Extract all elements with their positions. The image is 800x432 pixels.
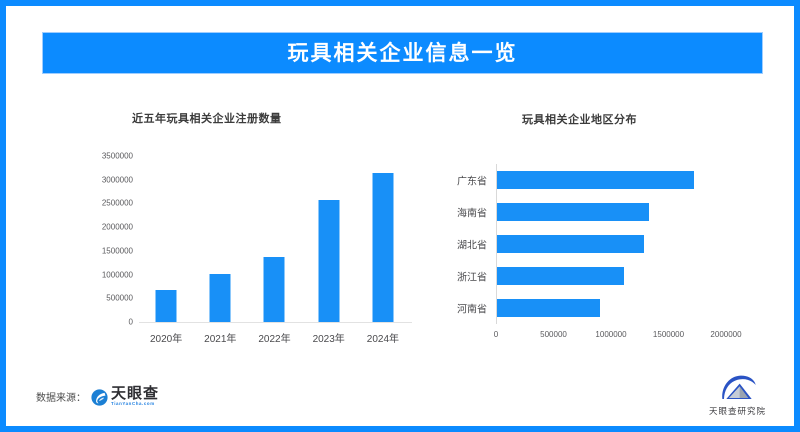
regions-bar-fill (497, 267, 624, 285)
registrations-bar-fill (210, 274, 231, 322)
tianyancha-swirl-icon (91, 389, 108, 406)
registrations-y-tick: 3500000 (102, 152, 133, 161)
regions-category-label: 广东省 (457, 173, 487, 188)
registrations-baseline (139, 322, 412, 323)
tianyancha-name-cn: 天眼查 (111, 386, 159, 401)
infographic-poster: 玩具相关企业信息一览 近五年玩具相关企业注册数量 050000010000001… (0, 0, 800, 432)
regions-bar-fill (497, 203, 649, 221)
regions-category-label: 湖北省 (457, 237, 487, 252)
institute-name: 天眼查研究院 (709, 405, 766, 417)
registrations-y-tick: 0 (129, 318, 133, 327)
registrations-bar-fill (264, 257, 285, 322)
registrations-bar (193, 156, 247, 322)
registrations-bar-fill (318, 200, 339, 322)
title-banner: 玩具相关企业信息一览 (42, 32, 763, 74)
institute-logo: 天眼查研究院 (709, 372, 766, 417)
regions-x-tick: 2000000 (710, 330, 741, 339)
data-source-label: 数据来源： (36, 389, 86, 404)
registrations-x-tick: 2024年 (367, 330, 399, 345)
regions-bar-fill (497, 235, 644, 253)
registrations-bar (139, 156, 193, 322)
regions-chart-panel: 玩具相关企业地区分布 广东省海南省湖北省浙江省河南省 0500000100000… (436, 102, 786, 352)
regions-chart-title: 玩具相关企业地区分布 (522, 111, 637, 127)
regions-plot-area: 广东省海南省湖北省浙江省河南省 050000010000001500000200… (496, 164, 726, 324)
regions-x-tick: 500000 (540, 330, 567, 339)
page-title: 玩具相关企业信息一览 (288, 43, 518, 64)
data-source: 数据来源： 天眼查 TianYanCha.com (36, 386, 159, 406)
regions-x-tick: 0 (494, 330, 498, 339)
regions-bar: 广东省 (496, 164, 726, 196)
registrations-y-tick: 3000000 (102, 175, 133, 184)
tianyancha-name-en: TianYanCha.com (111, 402, 159, 406)
registrations-plot-area: 0500000100000015000002000000250000030000… (62, 156, 414, 322)
registrations-chart-panel: 近五年玩具相关企业注册数量 05000001000000150000020000… (34, 102, 426, 352)
tianyancha-logo: 天眼查 TianYanCha.com (91, 386, 159, 406)
registrations-y-tick: 2500000 (102, 199, 133, 208)
registrations-y-tick: 500000 (106, 294, 133, 303)
registrations-bar-fill (372, 173, 393, 322)
registrations-x-tick: 2020年 (150, 330, 182, 345)
registrations-y-tick: 2000000 (102, 223, 133, 232)
registrations-bar (247, 156, 301, 322)
regions-bar: 湖北省 (496, 228, 726, 260)
regions-category-label: 海南省 (457, 205, 487, 220)
registrations-chart-title: 近五年玩具相关企业注册数量 (132, 110, 282, 126)
registrations-y-tick: 1500000 (102, 246, 133, 255)
regions-bar: 海南省 (496, 196, 726, 228)
regions-bar-fill (497, 171, 694, 189)
regions-bar: 浙江省 (496, 260, 726, 292)
regions-bar: 河南省 (496, 292, 726, 324)
registrations-x-tick: 2023年 (313, 330, 345, 345)
registrations-x-tick: 2022年 (258, 330, 290, 345)
regions-category-label: 河南省 (457, 301, 487, 316)
tianyancha-wordmark: 天眼查 TianYanCha.com (111, 386, 159, 406)
mountain-arc-icon (717, 372, 757, 402)
regions-x-tick: 1000000 (595, 330, 626, 339)
regions-x-tick: 1500000 (653, 330, 684, 339)
registrations-x-tick: 2021年 (204, 330, 236, 345)
registrations-bar-fill (156, 290, 177, 322)
registrations-bar (356, 156, 410, 322)
regions-category-label: 浙江省 (457, 269, 487, 284)
registrations-y-tick: 1000000 (102, 270, 133, 279)
regions-bar-fill (497, 299, 600, 317)
registrations-bar (302, 156, 356, 322)
